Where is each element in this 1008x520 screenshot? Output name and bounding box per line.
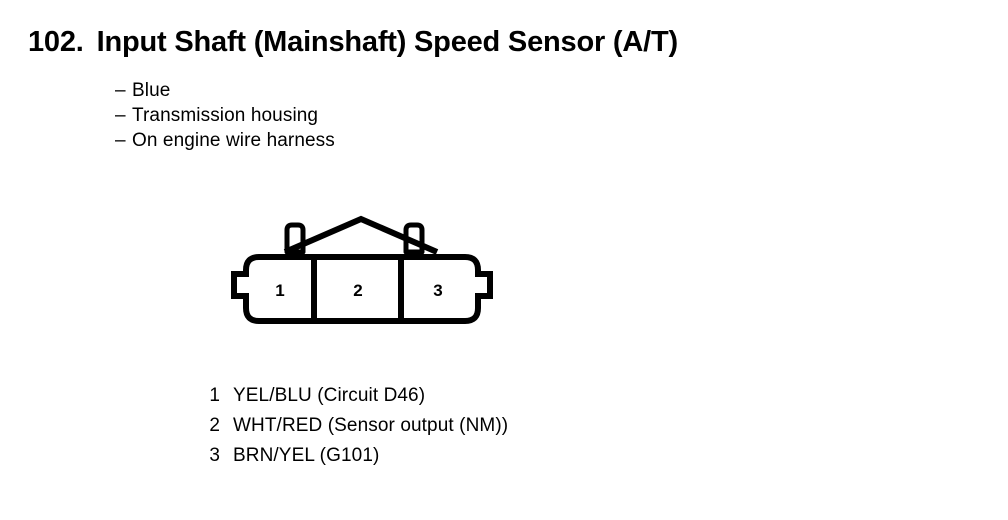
- attribute-location: Transmission housing: [132, 103, 318, 128]
- legend-pin-description: BRN/YEL (G101): [233, 441, 379, 471]
- legend-pin-number: 1: [206, 381, 220, 411]
- connector-diagram: 1 2 3: [228, 208, 496, 332]
- connector-cavity-2-number: 2: [353, 281, 362, 300]
- page-title: 102. Input Shaft (Mainshaft) Speed Senso…: [28, 26, 678, 59]
- pin-legend: 1 YEL/BLU (Circuit D46) 2 WHT/RED (Senso…: [206, 381, 508, 471]
- connector-tab-right-icon: [406, 225, 422, 252]
- dash-bullet-icon: –: [115, 103, 132, 128]
- page-title-text: Input Shaft (Mainshaft) Speed Sensor (A/…: [97, 26, 678, 59]
- list-item: 1 YEL/BLU (Circuit D46): [206, 381, 508, 411]
- list-item: 3 BRN/YEL (G101): [206, 441, 508, 471]
- legend-pin-number: 3: [206, 441, 220, 471]
- connector-cavity-3-number: 3: [433, 281, 442, 300]
- connector-cavity-1-number: 1: [275, 281, 284, 300]
- list-item: 2 WHT/RED (Sensor output (NM)): [206, 411, 508, 441]
- connector-illustration: 1 2 3: [228, 208, 496, 332]
- list-item: – Blue: [115, 78, 335, 103]
- dash-bullet-icon: –: [115, 128, 132, 153]
- attribute-color: Blue: [132, 78, 170, 103]
- legend-pin-number: 2: [206, 411, 220, 441]
- legend-pin-description: WHT/RED (Sensor output (NM)): [233, 411, 508, 441]
- attribute-harness: On engine wire harness: [132, 128, 335, 153]
- list-item: – On engine wire harness: [115, 128, 335, 153]
- legend-pin-description: YEL/BLU (Circuit D46): [233, 381, 425, 411]
- dash-bullet-icon: –: [115, 78, 132, 103]
- connector-attribute-list: – Blue – Transmission housing – On engin…: [115, 78, 335, 153]
- page-title-number: 102.: [28, 26, 84, 59]
- list-item: – Transmission housing: [115, 103, 335, 128]
